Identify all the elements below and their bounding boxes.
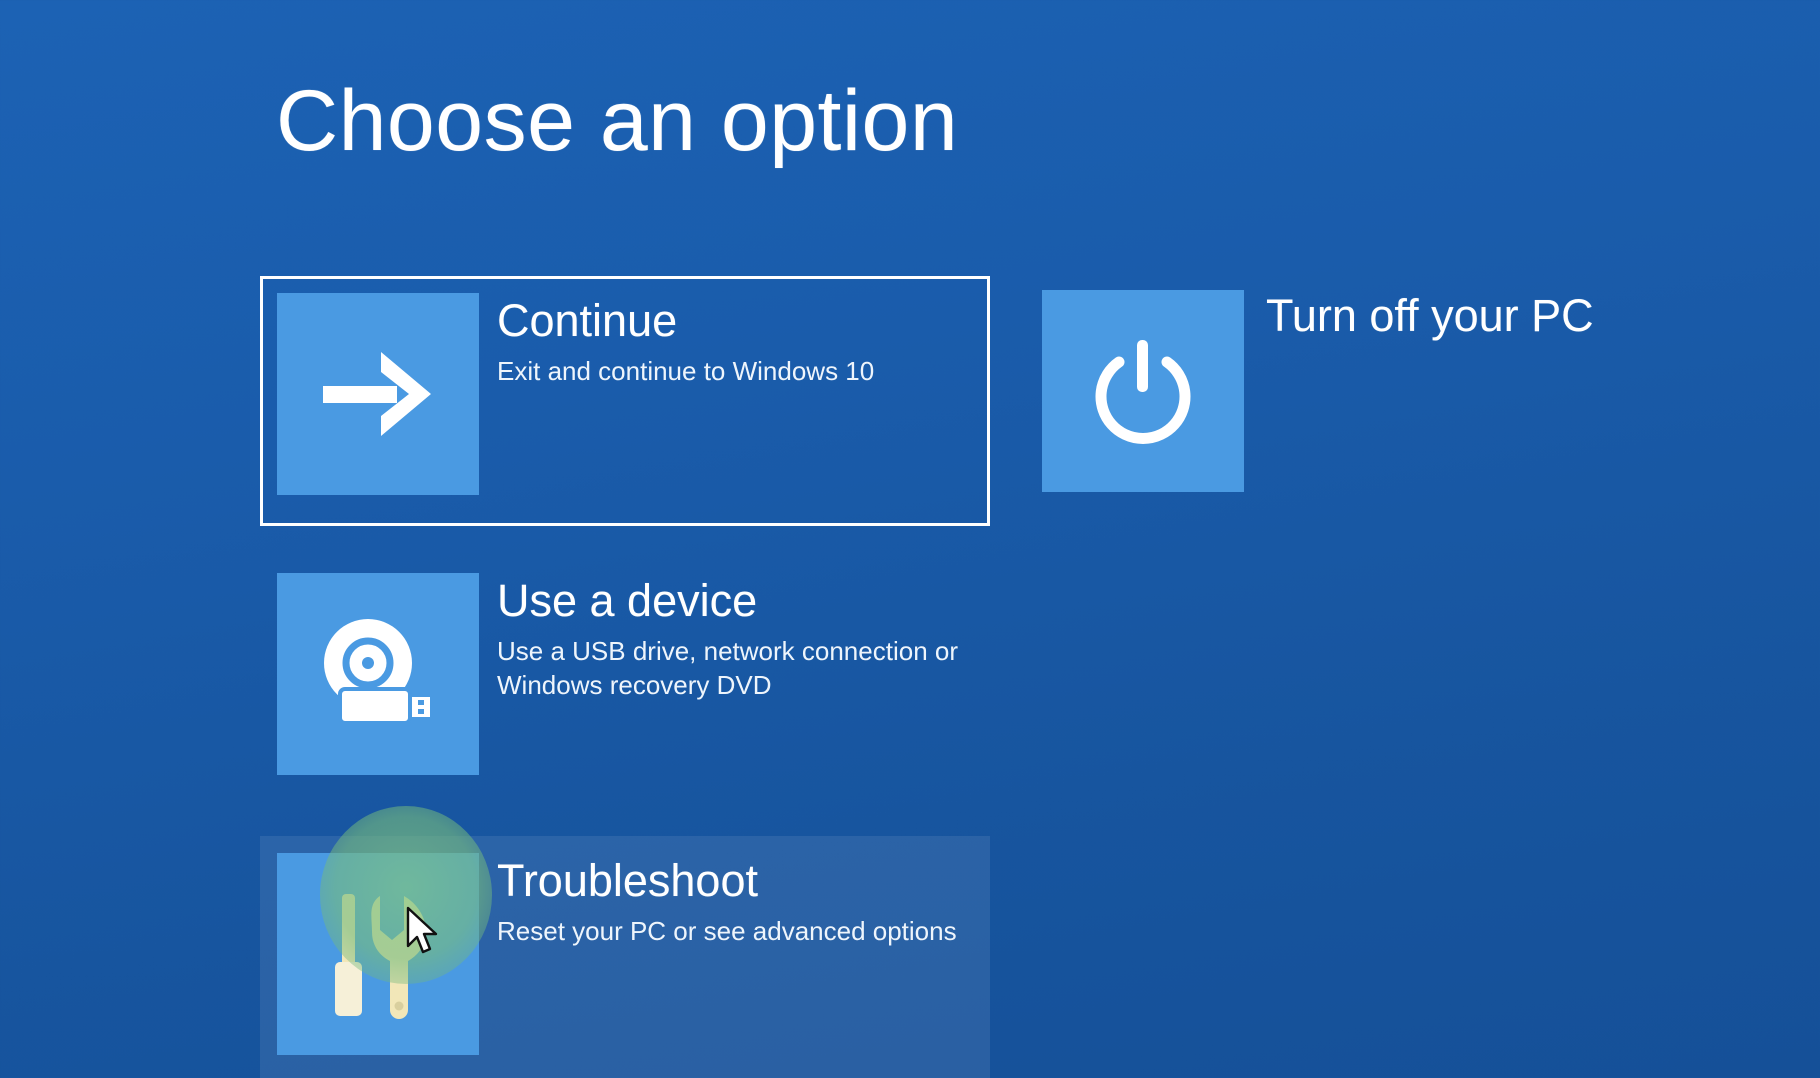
power-text-block: Turn off your PC	[1244, 290, 1594, 341]
use-a-device-title: Use a device	[497, 577, 973, 626]
option-turn-off-your-pc[interactable]: Turn off your PC	[1042, 290, 1594, 492]
option-use-a-device[interactable]: Use a device Use a USB drive, network co…	[260, 556, 990, 806]
continue-subtitle: Exit and continue to Windows 10	[497, 354, 973, 388]
power-title: Turn off your PC	[1266, 292, 1594, 341]
page-title: Choose an option	[276, 78, 958, 164]
power-icon	[1089, 336, 1197, 446]
use-a-device-text-block: Use a device Use a USB drive, network co…	[479, 573, 973, 702]
arrow-right-icon	[319, 346, 437, 442]
troubleshoot-subtitle: Reset your PC or see advanced options	[497, 914, 973, 948]
continue-icon-tile	[277, 293, 479, 495]
continue-title: Continue	[497, 297, 973, 346]
troubleshoot-title: Troubleshoot	[497, 857, 973, 906]
use-a-device-icon-tile	[277, 573, 479, 775]
option-continue[interactable]: Continue Exit and continue to Windows 10	[260, 276, 990, 526]
use-a-device-subtitle: Use a USB drive, network connection or W…	[497, 634, 973, 703]
continue-text-block: Continue Exit and continue to Windows 10	[479, 293, 973, 388]
troubleshoot-text-block: Troubleshoot Reset your PC or see advanc…	[479, 853, 973, 948]
options-list: Continue Exit and continue to Windows 10…	[260, 276, 990, 1078]
option-troubleshoot[interactable]: Troubleshoot Reset your PC or see advanc…	[260, 836, 990, 1078]
screwdriver-wrench-icon	[318, 886, 438, 1022]
disc-usb-drive-icon	[310, 615, 446, 733]
troubleshoot-icon-tile	[277, 853, 479, 1055]
power-icon-tile	[1042, 290, 1244, 492]
